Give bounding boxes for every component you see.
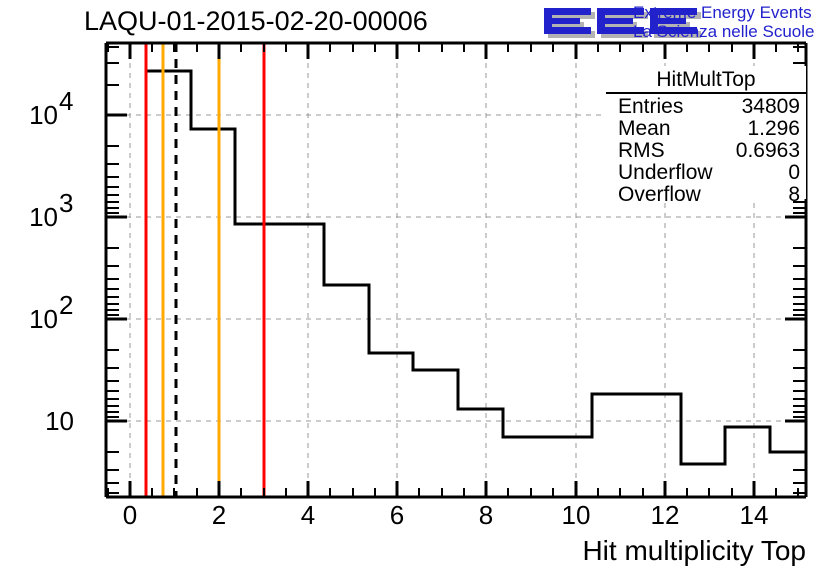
y-tick-100-base: 10 (29, 304, 58, 334)
histogram-svg: LAQU-01-2015-02-20-00006 (0, 0, 836, 572)
logo-line2: La Scienza nelle Scuole (633, 22, 814, 41)
x-tick-label-0: 0 (123, 500, 137, 530)
page-title: LAQU-01-2015-02-20-00006 (84, 6, 428, 36)
x-axis-title: Hit multiplicity Top (582, 535, 806, 566)
y-tick-1000-exp: 3 (59, 188, 73, 218)
x-tick-label-14: 14 (740, 500, 769, 530)
y-tick-10000-exp: 4 (59, 86, 73, 116)
stats-row-4-value: 8 (788, 183, 800, 206)
stats-row-0-label: Entries (618, 95, 683, 118)
y-tick-100-exp: 2 (59, 290, 73, 320)
y-tick-10000-base: 10 (29, 100, 58, 130)
stats-row-2-value: 0.6963 (736, 139, 800, 162)
stats-box-title: HitMultTop (656, 68, 755, 91)
x-tick-label-2: 2 (212, 500, 226, 530)
stats-row-0-value: 34809 (742, 95, 800, 118)
x-tick-label-4: 4 (301, 500, 315, 530)
x-tick-label-10: 10 (562, 500, 591, 530)
stats-row-3-label: Underflow (618, 161, 713, 184)
logo-line1: Extreme Energy Events (633, 3, 812, 22)
stats-row-3-value: 0 (788, 161, 800, 184)
x-tick-label-8: 8 (479, 500, 493, 530)
y-tick-label-10: 10 (45, 406, 74, 436)
stats-row-2-label: RMS (618, 139, 665, 162)
stats-row-4-label: Overflow (618, 183, 702, 206)
x-tick-label-12: 12 (651, 500, 680, 530)
y-tick-1000-base: 10 (29, 202, 58, 232)
stats-box[interactable]: HitMultTop Entries 34809 Mean 1.296 RMS … (606, 66, 806, 206)
stats-row-1-label: Mean (618, 117, 671, 140)
stats-row-1-value: 1.296 (747, 117, 800, 140)
x-tick-label-6: 6 (390, 500, 404, 530)
root-canvas: LAQU-01-2015-02-20-00006 (0, 0, 836, 572)
